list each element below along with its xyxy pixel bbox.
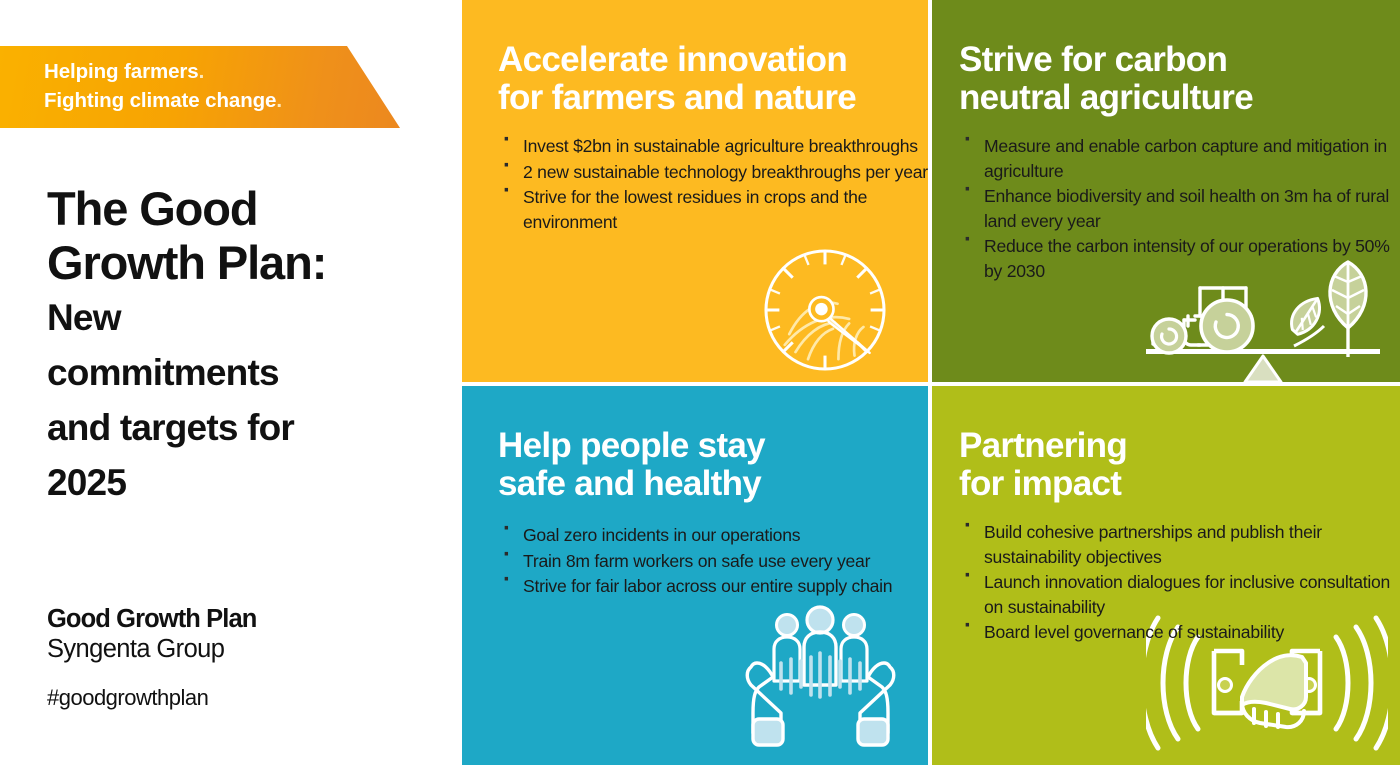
quadrant-heading-line-1: Partnering: [959, 426, 1127, 465]
quadrant-safe-and-healthy: Help people stay safe and healthy Goal z…: [462, 386, 928, 765]
logo-primary-text: Good Growth Plan: [47, 604, 427, 634]
quadrant-heading-line-2: for impact: [959, 464, 1121, 503]
compass-icon: [740, 234, 910, 382]
quadrant-bullet-list: Invest $2bn in sustainable agriculture b…: [462, 134, 928, 234]
infographic-root: Helping farmers. Fighting climate change…: [0, 0, 1400, 765]
quadrant-partnering-for-impact: Partnering for impact Build cohesive par…: [932, 386, 1400, 765]
tagline-text-1: Helping farmers: [44, 60, 199, 83]
list-item: Enhance biodiversity and soil health on …: [959, 184, 1400, 233]
left-panel: Helping farmers. Fighting climate change…: [0, 0, 462, 765]
quadrant-heading-line-1: Help people stay: [498, 426, 765, 465]
quadrant-bullet-list: Measure and enable carbon capture and mi…: [932, 134, 1400, 283]
page-subtitle-line-3: and targets for: [47, 400, 437, 455]
quadrant-heading: Partnering for impact: [932, 386, 1400, 503]
list-item: 2 new sustainable technology breakthroug…: [498, 160, 928, 185]
quadrant-carbon-neutral-agriculture: Strive for carbon neutral agriculture Me…: [932, 0, 1400, 382]
page-title-line-2: Growth Plan:: [47, 236, 437, 290]
list-item: Goal zero incidents in our operations: [498, 523, 928, 548]
list-item: Train 8m farm workers on safe use every …: [498, 549, 928, 574]
page-subtitle-line-4: 2025: [47, 455, 437, 510]
list-item: Strive for fair labor across our entire …: [498, 574, 928, 599]
quadrant-heading-line-2: neutral agriculture: [959, 78, 1253, 117]
list-item: Build cohesive partnerships and publish …: [959, 520, 1400, 569]
logo-secondary-text: Syngenta Group: [47, 634, 427, 665]
page-title-line-1: The Good: [47, 182, 437, 236]
hands-holding-people-icon: [743, 601, 898, 751]
page-subtitle-line-1: New: [47, 290, 437, 345]
list-item: Measure and enable carbon capture and mi…: [959, 134, 1400, 183]
quadrant-heading: Accelerate innovation for farmers and na…: [462, 0, 928, 117]
list-item: Reduce the carbon intensity of our opera…: [959, 234, 1400, 283]
commitments-grid: Accelerate innovation for farmers and na…: [462, 0, 1400, 765]
brand-logo: Good Growth Plan Syngenta Group #goodgro…: [47, 604, 427, 711]
tagline-line-2: Fighting climate change.: [44, 86, 400, 115]
page-title: The Good Growth Plan: New commitments an…: [47, 182, 437, 510]
quadrant-heading: Strive for carbon neutral agriculture: [932, 0, 1400, 117]
quadrant-heading-line-1: Strive for carbon: [959, 40, 1227, 79]
tagline-banner: Helping farmers. Fighting climate change…: [0, 46, 400, 128]
quadrant-heading-line-2: for farmers and nature: [498, 78, 856, 117]
tagline-text-2: Fighting climate change: [44, 89, 276, 112]
list-item: Launch innovation dialogues for inclusiv…: [959, 570, 1400, 619]
list-item: Board level governance of sustainability: [959, 620, 1400, 645]
tagline-line-1: Helping farmers.: [44, 57, 400, 86]
hashtag-label: #goodgrowthplan: [47, 685, 427, 711]
quadrant-bullet-list: Goal zero incidents in our operations Tr…: [462, 523, 928, 599]
quadrant-accelerate-innovation: Accelerate innovation for farmers and na…: [462, 0, 928, 382]
quadrant-heading-line-2: safe and healthy: [498, 464, 761, 503]
tagline-dot-1: .: [199, 60, 205, 83]
quadrant-heading-line-1: Accelerate innovation: [498, 40, 847, 79]
page-subtitle-line-2: commitments: [47, 345, 437, 400]
quadrant-heading: Help people stay safe and healthy: [462, 386, 928, 503]
list-item: Strive for the lowest residues in crops …: [498, 185, 928, 234]
quadrant-bullet-list: Build cohesive partnerships and publish …: [932, 520, 1400, 645]
list-item: Invest $2bn in sustainable agriculture b…: [498, 134, 928, 159]
tagline-dot-2: .: [276, 89, 282, 112]
